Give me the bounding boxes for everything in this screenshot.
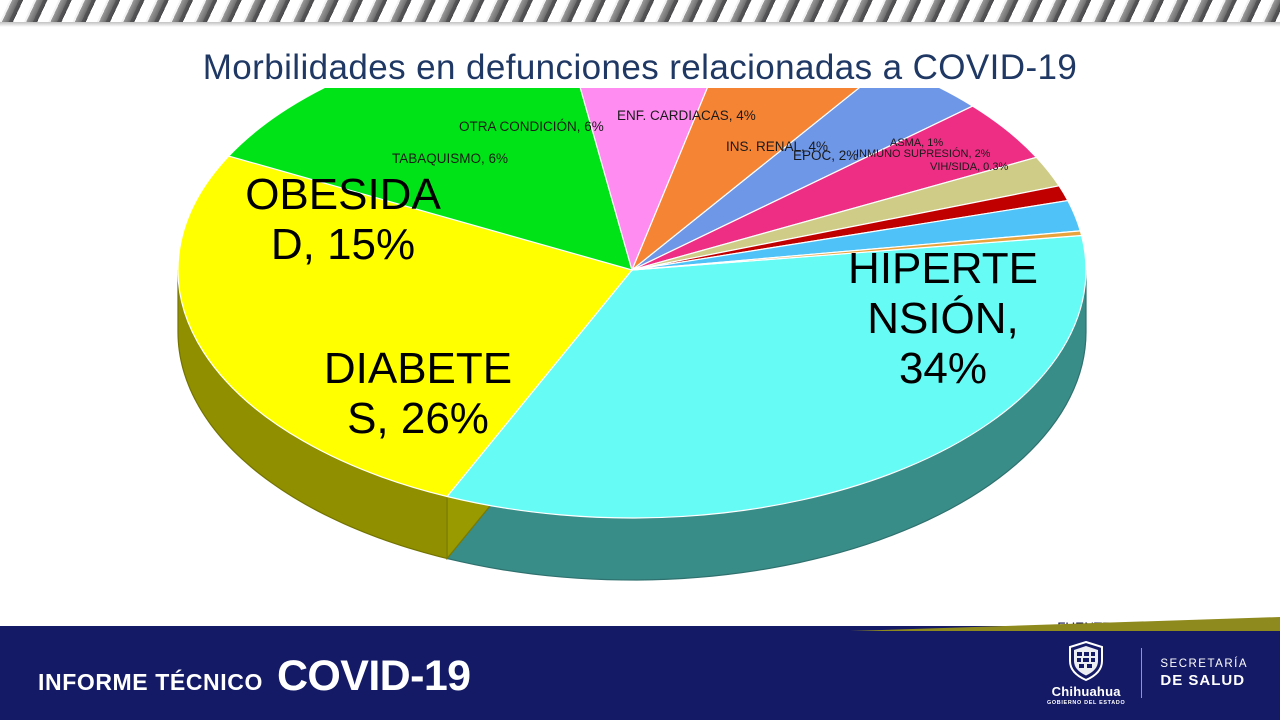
chihuahua-name: Chihuahua (1052, 684, 1121, 699)
pie-chart: HIPERTE NSIÓN, 34% DIABETE S, 26% OBESID… (0, 88, 1280, 633)
pie-chart-svg (0, 88, 1280, 633)
hazard-stripe-header (0, 0, 1280, 22)
header-shadow (0, 22, 1280, 27)
footer-band: INFORME TÉCNICO COVID-19 (0, 626, 1280, 720)
informe-tecnico-label: INFORME TÉCNICO (38, 669, 263, 696)
secretaria-de-salud-logo: SECRETARÍA DE SALUD (1160, 658, 1262, 689)
secretaria-line-2: DE SALUD (1160, 672, 1248, 689)
page-title: Morbilidades en defunciones relacionadas… (0, 48, 1280, 88)
shield-icon (1068, 641, 1104, 681)
pie-slices (178, 88, 1086, 580)
covid-19-label: COVID-19 (277, 652, 471, 701)
footer-branding: INFORME TÉCNICO COVID-19 (38, 652, 470, 701)
chihuahua-logo: Chihuahua GOBIERNO DEL ESTADO (1047, 641, 1141, 706)
secretaria-line-1: SECRETARÍA (1160, 658, 1248, 670)
slide-canvas: Morbilidades en defunciones relacionadas… (0, 0, 1280, 720)
footer-logos: Chihuahua GOBIERNO DEL ESTADO SECRETARÍA… (1047, 640, 1262, 706)
footer-divider (1141, 648, 1142, 698)
chihuahua-subtitle: GOBIERNO DEL ESTADO (1047, 700, 1125, 706)
